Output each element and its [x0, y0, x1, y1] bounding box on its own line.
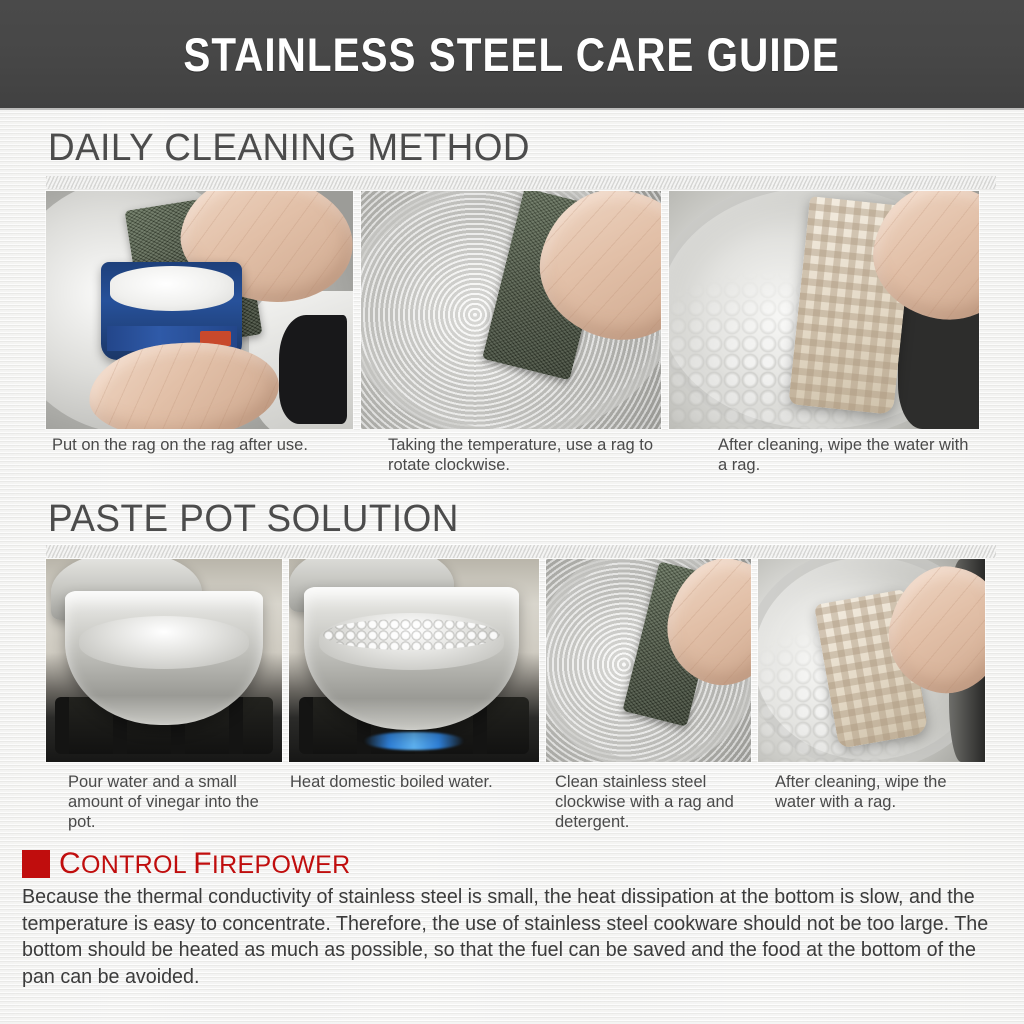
section-heading-paste-pot: PASTE POT SOLUTION: [48, 498, 459, 541]
step-caption-2-3: Clean stainless steel clockwise with a r…: [555, 772, 745, 832]
photo-strip-daily-cleaning: [46, 191, 979, 429]
step-photo-paste-tub: [46, 191, 353, 429]
step-caption-1-3: After cleaning, wipe the water with a ra…: [718, 435, 978, 475]
section-divider-paste-pot: [46, 545, 996, 558]
photo-strip-paste-pot: [46, 559, 985, 762]
firepower-title-c: C: [59, 847, 81, 880]
firepower-title-irepower: IREPOWER: [212, 851, 351, 879]
step-photo-wipe-dry: [758, 559, 985, 762]
firepower-heading: CONTROL FIREPOWER: [22, 847, 350, 881]
step-photo-scrub-detergent: [546, 559, 751, 762]
step-caption-2-1: Pour water and a small amount of vinegar…: [68, 772, 268, 832]
page-title: STAINLESS STEEL CARE GUIDE: [184, 27, 840, 82]
firepower-title: CONTROL FIREPOWER: [59, 847, 350, 881]
step-photo-scrub-pot: [361, 191, 661, 429]
firepower-body-text: Because the thermal conductivity of stai…: [22, 884, 991, 990]
firepower-title-ontrol: ONTROL: [81, 851, 193, 879]
white-paste: [110, 266, 234, 311]
step-photo-boiling-water: [289, 559, 539, 762]
poster-header: STAINLESS STEEL CARE GUIDE: [0, 0, 1024, 110]
step-caption-1-1: Put on the rag on the rag after use.: [52, 435, 352, 455]
boiling-bubbles: [323, 619, 499, 650]
care-guide-poster: STAINLESS STEEL CARE GUIDE DAILY CLEANIN…: [0, 0, 1024, 1024]
firepower-title-f: F: [193, 847, 212, 880]
red-square-bullet-icon: [22, 850, 50, 878]
gas-flame: [364, 732, 464, 750]
water-in-wok: [79, 616, 249, 670]
step-caption-1-2: Taking the temperature, use a rag to rot…: [388, 435, 658, 475]
section-divider-daily-cleaning: [46, 176, 996, 189]
step-caption-2-4: After cleaning, wipe the water with a ra…: [775, 772, 975, 812]
step-caption-2-2: Heat domestic boiled water.: [290, 772, 530, 792]
dark-backdrop: [279, 315, 347, 424]
step-photo-wipe-cloth: [669, 191, 979, 429]
step-photo-wok-water: [46, 559, 282, 762]
section-heading-daily-cleaning: DAILY CLEANING METHOD: [48, 127, 530, 170]
